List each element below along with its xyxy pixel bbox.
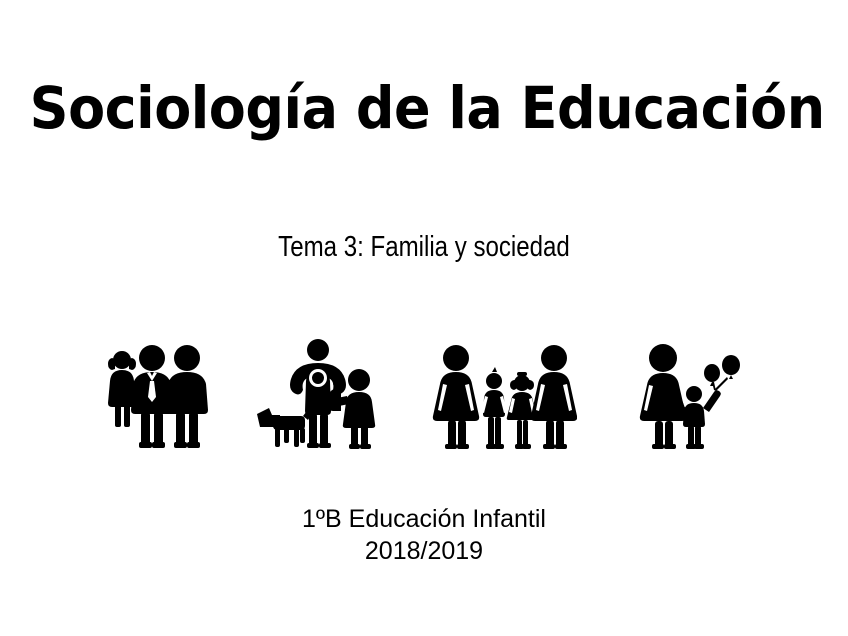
balloons-icon	[704, 355, 740, 391]
two-fathers-with-girl-pictogram	[100, 336, 218, 456]
family-pictograms	[0, 336, 848, 456]
page-title: Sociología de la Educación	[30, 78, 819, 139]
single-mother-with-child-and-balloons-pictogram	[636, 336, 746, 456]
footer-course: 1ºB Educación Infantil	[0, 503, 848, 535]
footer-block: 1ºB Educación Infantil 2018/2019	[0, 503, 848, 567]
woman-figure-left	[433, 345, 479, 449]
two-mothers-with-two-children-pictogram	[432, 336, 577, 456]
slide-canvas: Sociología de la Educación Tema 3: Famil…	[0, 0, 848, 636]
woman-figure-right	[531, 345, 577, 449]
page-subtitle: Tema 3: Familia y sociedad	[72, 232, 776, 264]
baby-head	[333, 377, 345, 389]
woman-figure	[640, 344, 686, 449]
boy-child-figure	[481, 367, 507, 449]
footer-academic-year: 2018/2019	[0, 535, 848, 567]
woman-holding-baby-figure	[329, 369, 375, 449]
father-mother-baby-dog-pictogram	[255, 336, 385, 456]
